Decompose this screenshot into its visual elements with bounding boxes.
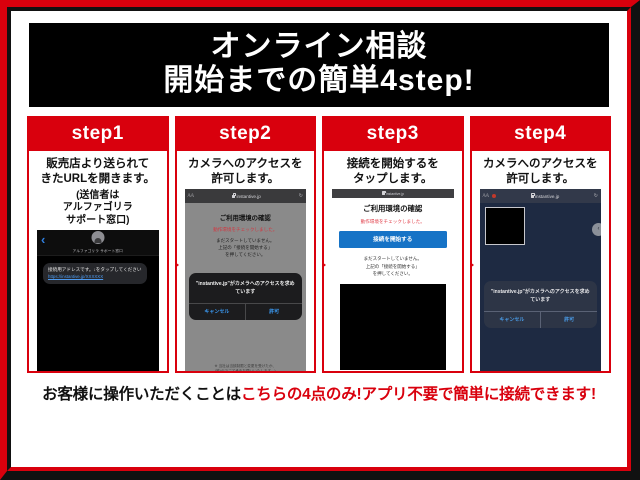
step-4-desc-line-1: カメラへのアクセスを [474, 157, 608, 172]
steps-row: step1 販売店より送られて きたURLを開きます。 (送信者は アルファゴリ… [23, 116, 615, 373]
title-banner: オンライン相談 開始までの簡単4step! [29, 23, 609, 107]
dialog-cancel-button[interactable]: キャンセル [189, 304, 246, 320]
step-3-header: step3 [324, 118, 462, 151]
step-2-desc-line-1: カメラへのアクセスを [179, 157, 313, 172]
messaging-app-screenshot: ‹ アルファゴリラ サポート窓口 接続用アドレスです。↓をタップしてください h… [37, 230, 159, 371]
camera-permission-dialog: "instantive.jp"がカメラへのアクセスを求めています キャンセル 許… [189, 273, 303, 320]
step-3-description: 接続を開始するを タップします。 [324, 151, 462, 189]
dialog-message: "instantive.jp"がカメラへのアクセスを求めています [189, 273, 303, 303]
step-1-desc-line-1: 販売店より送られて [31, 157, 165, 172]
arrow-1-to-2-icon [175, 254, 179, 276]
arrow-2-to-3-icon [322, 254, 326, 276]
poster-inner: オンライン相談 開始までの簡単4step! step1 販売店より送られて きた… [7, 7, 631, 471]
footer-banner: お客様に操作いただくことはこちらの4点のみ!アプリ不要で簡単に接続できます! [23, 373, 615, 404]
video-placeholder [340, 284, 446, 370]
step-4-header: step4 [472, 118, 610, 151]
title-line-1: オンライン相談 [29, 30, 609, 64]
dialog-allow-button[interactable]: 許可 [245, 304, 302, 320]
address-bar-url[interactable]: instantive.jp [197, 194, 296, 199]
step-1-desc-line-2: きたURLを開きます。 [31, 172, 165, 187]
page-body-line-3: を押してください。 [339, 270, 447, 277]
arrow-3-to-4-icon [470, 254, 474, 276]
dialog-cancel-button[interactable]: キャンセル [484, 312, 541, 328]
page-body-line-2: 上記の「接続を開始する」 [339, 263, 447, 270]
url-text: instantive.jp [237, 194, 261, 199]
recording-indicator-icon [492, 194, 496, 198]
browser-address-bar-4[interactable]: 𝔸𝔸 instantive.jp ↻ [480, 189, 602, 203]
url-text: instantive.jp [386, 192, 404, 196]
footer-highlight-text: こちらの4点のみ!アプリ不要で簡単に接続できます! [241, 386, 596, 403]
step-4-screenshot-wrap: 𝔸𝔸 instantive.jp ↻ ‹ "instantive.jp"がカメラ… [472, 189, 610, 371]
reload-icon[interactable]: ↻ [594, 193, 598, 199]
url-text: instantive.jp [535, 194, 559, 199]
step-4-description: カメラへのアクセスを 許可します。 [472, 151, 610, 189]
step-1-header: step1 [29, 118, 167, 151]
page-footnote: ※ 当社は当該制限と変更を受けたか、 (株)のでご了承をお願いいたします。) [191, 364, 301, 371]
contact-name: アルファゴリラ サポート窓口 [37, 249, 159, 254]
lock-icon [531, 195, 534, 198]
step-panel-1[interactable]: step1 販売店より送られて きたURLを開きます。 (送信者は アルファゴリ… [27, 116, 169, 373]
lock-icon [232, 195, 235, 198]
page-body-line-1: まだスタートしていません。 [339, 255, 447, 262]
page-body-line-3: を押してください。 [191, 252, 301, 259]
browser-page-content: ご利用環境の確認 動作環境をチェックしました。 まだスタートしていません。 上記… [185, 203, 307, 371]
page-red-note: 動作環境をチェックしました。 [191, 227, 301, 233]
step-panel-2[interactable]: step2 カメラへのアクセスを 許可します。 𝔸𝔸 instantive.jp… [175, 116, 317, 373]
browser-address-bar[interactable]: 𝔸𝔸 instantive.jp ↻ [185, 189, 307, 203]
dialog-message: "instantive.jp"がカメラへのアクセスを求めています [484, 281, 598, 311]
self-view-thumbnail [485, 207, 525, 245]
step-1-description: 販売店より送られて きたURLを開きます。 [29, 151, 167, 189]
text-size-icon[interactable]: 𝔸𝔸 [188, 193, 195, 199]
step-2-desc-line-2: 許可します。 [179, 172, 313, 187]
message-bubble: 接続用アドレスです。↓をタップしてください https://instantive… [43, 263, 147, 285]
step-1-screenshot-wrap: ‹ アルファゴリラ サポート窓口 接続用アドレスです。↓をタップしてください h… [29, 230, 167, 371]
reload-icon[interactable]: ↻ [299, 193, 303, 199]
poster-frame: オンライン相談 開始までの簡単4step! step1 販売店より送られて きた… [0, 0, 640, 480]
lock-icon [382, 192, 385, 195]
browser-connect-screenshot: instantive.jp ご利用環境の確認 動作環境をチェックしました。 接続… [332, 189, 454, 371]
step-2-screenshot-wrap: 𝔸𝔸 instantive.jp ↻ ご利用環境の確認 動作環境をチェックしまし… [177, 189, 315, 371]
step-3-screenshot-wrap: instantive.jp ご利用環境の確認 動作環境をチェックしました。 接続… [324, 189, 462, 371]
address-bar-url[interactable]: instantive.jp [499, 194, 591, 199]
messaging-header: ‹ アルファゴリラ サポート窓口 [37, 230, 159, 256]
back-chevron-icon[interactable]: ‹ [41, 233, 45, 246]
page-body: まだスタートしていません。 上記の「接続を開始する」 を押してください。 [191, 238, 301, 259]
browser-page-content-3: ご利用環境の確認 動作環境をチェックしました。 接続を開始する まだスタートして… [332, 198, 454, 371]
step-2-header: step2 [177, 118, 315, 151]
step-3-desc-line-2: タップします。 [326, 172, 460, 187]
footer-plain-text: お客様に操作いただくことは [42, 386, 241, 403]
step-3-desc-line-1: 接続を開始するを [326, 157, 460, 172]
page-heading: ご利用環境の確認 [339, 203, 447, 214]
step-1-sub-line-2: アルファゴリラ [31, 202, 165, 214]
avatar [91, 231, 104, 244]
step-panel-3[interactable]: step3 接続を開始するを タップします。 instantive.jp ご利用… [322, 116, 464, 373]
dialog-allow-button[interactable]: 許可 [540, 312, 597, 328]
step-1-sub-line-3: サポート窓口) [31, 215, 165, 227]
page-footnote-line-2: (株)のでご了承をお願いいたします。) [191, 369, 301, 370]
step-4-desc-line-2: 許可します。 [474, 172, 608, 187]
title-line-2: 開始までの簡単4step! [29, 64, 609, 98]
step-panel-4[interactable]: step4 カメラへのアクセスを 許可します。 𝔸𝔸 instantive.jp… [470, 116, 612, 373]
page-body: まだスタートしていません。 上記の「接続を開始する」 を押してください。 [339, 255, 447, 277]
dialog-buttons: キャンセル 許可 [189, 303, 303, 320]
browser-permission-screenshot: 𝔸𝔸 instantive.jp ↻ ご利用環境の確認 動作環境をチェックしまし… [185, 189, 307, 371]
video-call-permission-screenshot: 𝔸𝔸 instantive.jp ↻ ‹ "instantive.jp"がカメラ… [480, 189, 602, 371]
message-text: 接続用アドレスです。↓をタップしてください [48, 267, 142, 274]
browser-address-bar-3[interactable]: instantive.jp [332, 189, 454, 198]
page-heading: ご利用環境の確認 [191, 213, 301, 222]
chevron-left-icon[interactable]: ‹ [592, 223, 601, 236]
step-2-description: カメラへのアクセスを 許可します。 [177, 151, 315, 189]
page-red-note: 動作環境をチェックしました。 [339, 219, 447, 225]
dialog-buttons: キャンセル 許可 [484, 311, 598, 328]
step-1-sub-line-1: (送信者は [31, 190, 165, 202]
start-connection-button[interactable]: 接続を開始する [339, 231, 447, 248]
message-link[interactable]: https://instantive.jp/XXXXXX [48, 274, 142, 279]
camera-permission-dialog: "instantive.jp"がカメラへのアクセスを求めています キャンセル 許… [484, 281, 598, 328]
step-1-subnote: (送信者は アルファゴリラ サポート窓口) [29, 189, 167, 230]
text-size-icon[interactable]: 𝔸𝔸 [483, 193, 490, 199]
